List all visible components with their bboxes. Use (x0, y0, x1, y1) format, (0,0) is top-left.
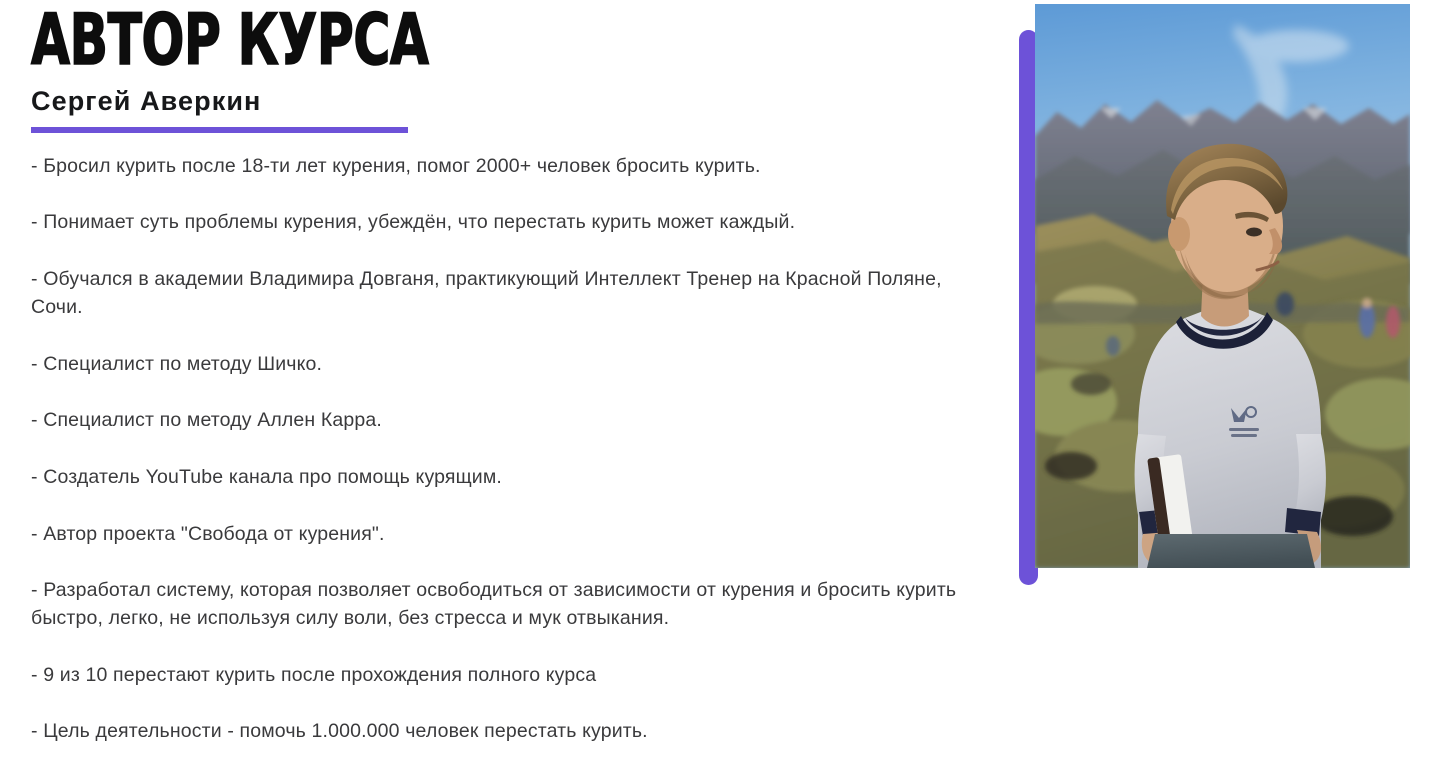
author-info-column: АВТОР КУРСА Сергей Аверкин - Бросил кури… (0, 0, 1005, 758)
bio-item: - Специалист по методу Шичко. (31, 351, 979, 379)
bio-item: - Цель деятельности - помочь 1.000.000 ч… (31, 718, 979, 746)
bio-item: - Специалист по методу Аллен Карра. (31, 407, 979, 435)
bio-item: - 9 из 10 перестают курить после прохожд… (31, 662, 979, 690)
author-name-block: Сергей Аверкин (31, 87, 1005, 133)
bio-item: - Создатель YouTube канала про помощь ку… (31, 464, 979, 492)
author-name: Сергей Аверкин (31, 87, 1005, 117)
bio-list: - Бросил курить после 18-ти лет курения,… (31, 153, 979, 746)
bio-item: - Автор проекта "Свобода от курения". (31, 521, 979, 549)
page-title: АВТОР КУРСА (31, 8, 810, 73)
bio-item: - Понимает суть проблемы курения, убеждё… (31, 209, 979, 237)
bio-item: - Бросил курить после 18-ти лет курения,… (31, 153, 979, 181)
media-column (1005, 0, 1446, 758)
bio-item: - Разработал систему, которая позволяет … (31, 577, 979, 632)
name-underline-accent (31, 127, 408, 133)
author-photo (1035, 4, 1410, 568)
bio-item: - Обучался в академии Владимира Довганя,… (31, 266, 979, 321)
